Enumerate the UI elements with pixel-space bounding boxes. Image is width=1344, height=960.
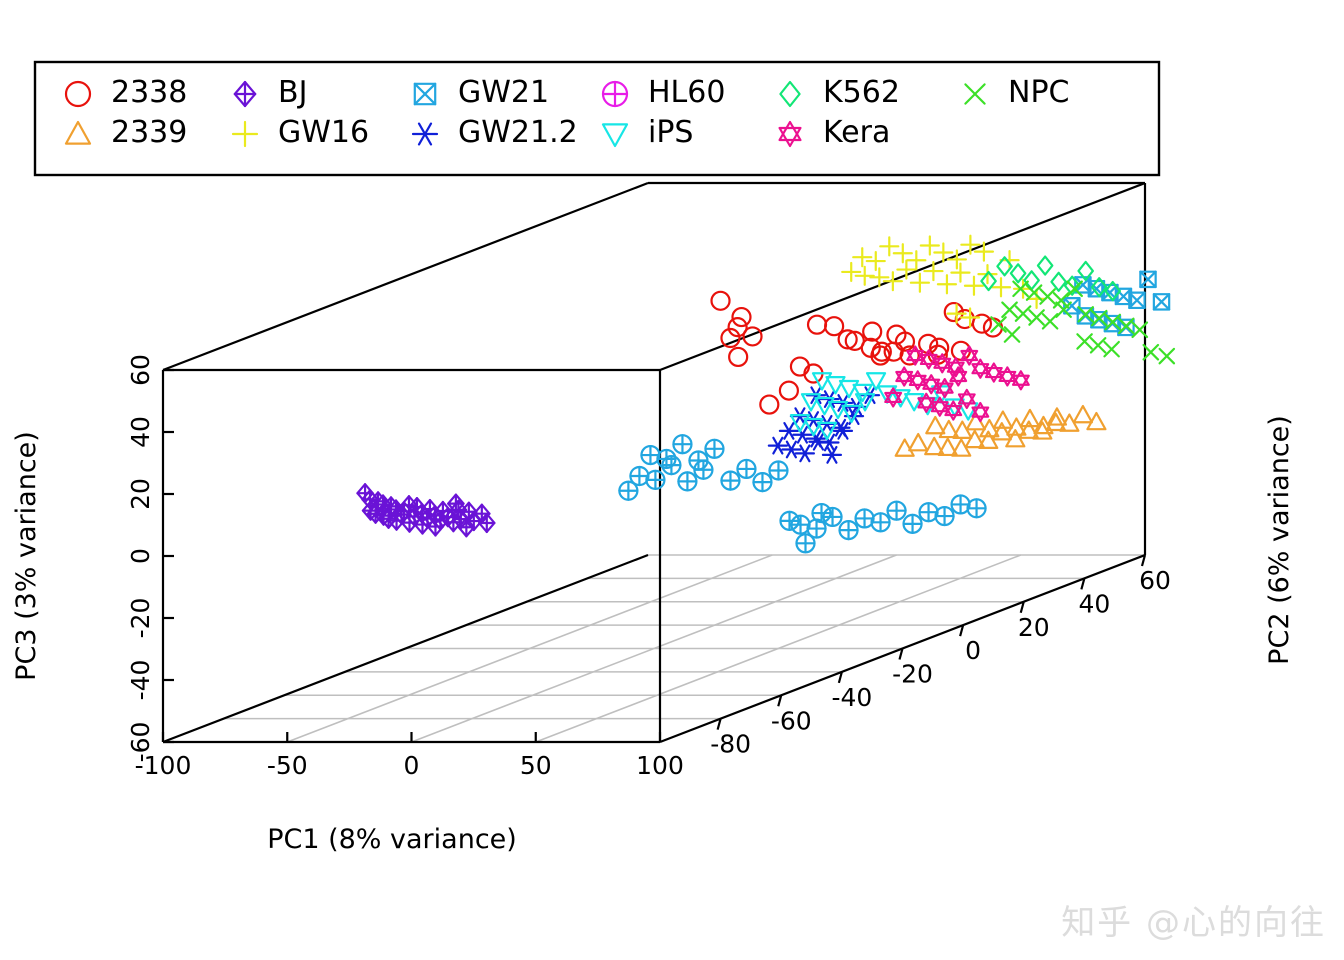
ztick-label: 20 bbox=[126, 478, 155, 510]
legend-label: HL60 bbox=[648, 75, 725, 110]
xtick-label: 0 bbox=[404, 751, 420, 780]
ytick-label: 20 bbox=[1018, 613, 1050, 642]
legend[interactable]: 23382339BJGW16GW21GW21.2HL60iPSK562KeraN… bbox=[35, 62, 1159, 175]
series-BJ bbox=[357, 484, 494, 536]
x-axis-title: PC1 (8% variance) bbox=[267, 824, 517, 855]
ytick-label: -40 bbox=[831, 683, 872, 712]
legend-label: 2339 bbox=[111, 115, 187, 150]
ztick-label: 40 bbox=[126, 416, 155, 448]
data-points bbox=[357, 236, 1174, 553]
ztick-label: 60 bbox=[126, 354, 155, 386]
pca-3d-scatter-plot: -100-50050100-60-40-200204060-80-60-40-2… bbox=[0, 0, 1344, 960]
y-axis-title: PC2 (6% variance) bbox=[1264, 415, 1295, 665]
ytick-label: 40 bbox=[1078, 589, 1110, 618]
z-axis-title: PC3 (3% variance) bbox=[11, 431, 42, 681]
xtick-label: 100 bbox=[636, 751, 684, 780]
ytick-label: -80 bbox=[710, 730, 751, 759]
legend-label: GW16 bbox=[278, 115, 369, 150]
legend-box bbox=[35, 62, 1159, 175]
floor-grid bbox=[163, 555, 1145, 742]
legend-label: GW21.2 bbox=[458, 115, 578, 150]
ytick-label: -60 bbox=[771, 706, 812, 735]
ytick-label: 0 bbox=[965, 636, 981, 665]
ytick-label: 60 bbox=[1139, 566, 1171, 595]
legend-label: GW21 bbox=[458, 75, 549, 110]
ztick-label: 0 bbox=[126, 548, 155, 564]
watermark: 知乎 @心的向往 bbox=[1061, 895, 1326, 944]
legend-label: iPS bbox=[648, 115, 693, 150]
legend-label: BJ bbox=[278, 75, 307, 110]
legend-marker-circle-plus-icon bbox=[603, 82, 627, 106]
legend-label: NPC bbox=[1008, 75, 1069, 110]
xtick-label: -50 bbox=[267, 751, 308, 780]
ytick-label: -20 bbox=[892, 660, 933, 689]
legend-label: K562 bbox=[823, 75, 900, 110]
ztick-label: -40 bbox=[126, 660, 155, 701]
legend-label: 2338 bbox=[111, 75, 187, 110]
ztick-label: -20 bbox=[126, 598, 155, 639]
legend-label: Kera bbox=[823, 115, 890, 150]
xtick-label: 50 bbox=[520, 751, 552, 780]
ztick-label: -60 bbox=[126, 722, 155, 763]
figure-root: -100-50050100-60-40-200204060-80-60-40-2… bbox=[0, 0, 1344, 960]
